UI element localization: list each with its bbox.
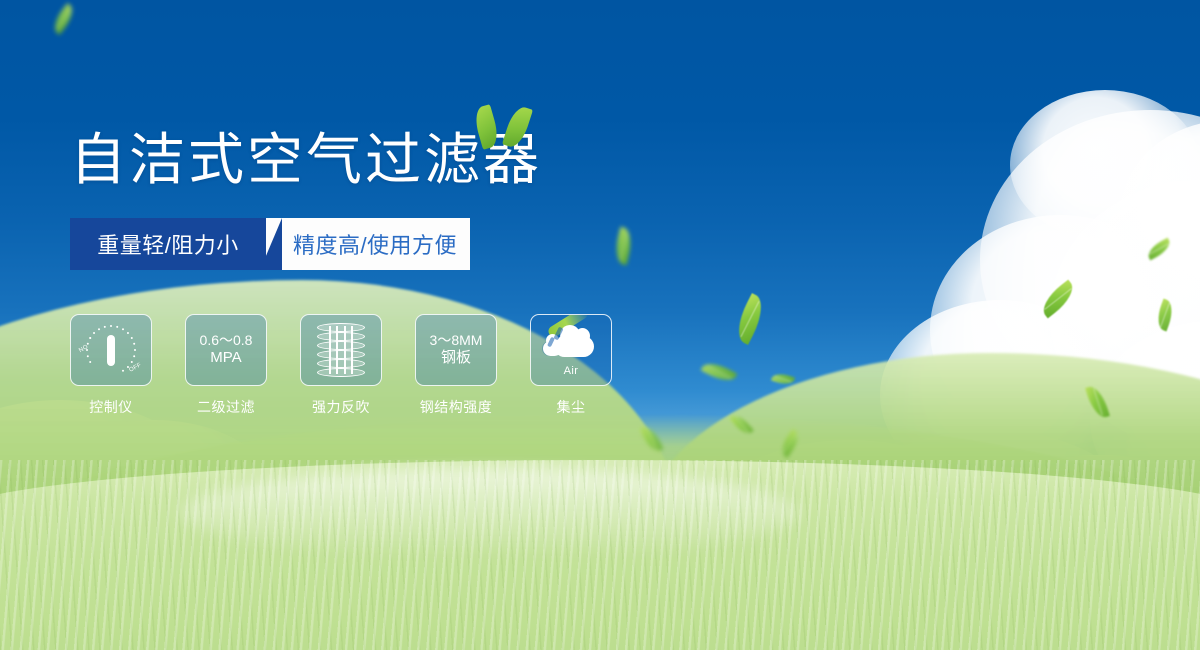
feature-list: NO OFF 控制仪 0.6～0.8 MPA 二级过滤 [70,314,612,417]
cloud-main-shape [554,336,594,357]
feature-icon-box: Air [530,314,612,386]
leaf-icon [701,358,738,386]
sprout-leaf-right [502,104,533,150]
grass-foreground [0,460,1200,650]
subtitle-segment-left: 重量轻/阻力小 [70,218,266,270]
feature-caption: 控制仪 [70,397,152,417]
cloud-shape [1120,120,1200,310]
feature-item-backblow[interactable]: 强力反吹 [300,314,382,417]
subtitle-segment-right: 精度高/使用方便 [266,218,470,270]
cloud-shape [1010,90,1200,240]
air-cloud-icon: Air [540,324,602,376]
leaf-icon [1037,280,1080,319]
steel-plate-icon: 3～8MM [430,332,483,349]
feature-icon-box: 0.6～0.8 MPA [185,314,267,386]
leaf-icon [730,293,770,345]
feature-item-dust-collection[interactable]: Air 集尘 [530,314,612,417]
feature-caption: 钢结构强度 [415,397,497,417]
leaf-icon [1153,299,1176,332]
pressure-unit-label: MPA [210,349,241,367]
feature-caption: 集尘 [530,397,612,417]
gauge-dial-icon: NO OFF [82,324,140,376]
product-banner: 自洁式空气过滤器 重量轻/阻力小 精度高/使用方便 [0,0,1200,650]
leaf-icon [1145,238,1174,261]
feature-item-controller[interactable]: NO OFF 控制仪 [70,314,152,417]
leaf-icon [612,227,635,266]
feature-icon-box: 3～8MM 钢板 [415,314,497,386]
feature-caption: 二级过滤 [185,397,267,417]
feature-item-filtration[interactable]: 0.6～0.8 MPA 二级过滤 [185,314,267,417]
feature-item-steel-strength[interactable]: 3～8MM 钢板 钢结构强度 [415,314,497,417]
sprout-leaves-icon [475,106,539,154]
feature-icon-box [300,314,382,386]
filter-disc-stack-icon [317,323,365,377]
pressure-value-icon: 0.6～0.8 [200,332,253,349]
feature-caption: 强力反吹 [300,397,382,417]
gauge-needle [107,335,115,366]
steel-plate-unit-label: 钢板 [441,349,471,367]
subtitle-bar: 重量轻/阻力小 精度高/使用方便 [70,218,470,270]
air-label: Air [540,365,602,377]
feature-icon-box: NO OFF [70,314,152,386]
banner-content: 自洁式空气过滤器 重量轻/阻力小 精度高/使用方便 [70,132,612,417]
leaf-icon [49,3,78,35]
sprout-leaf-left [472,104,502,150]
